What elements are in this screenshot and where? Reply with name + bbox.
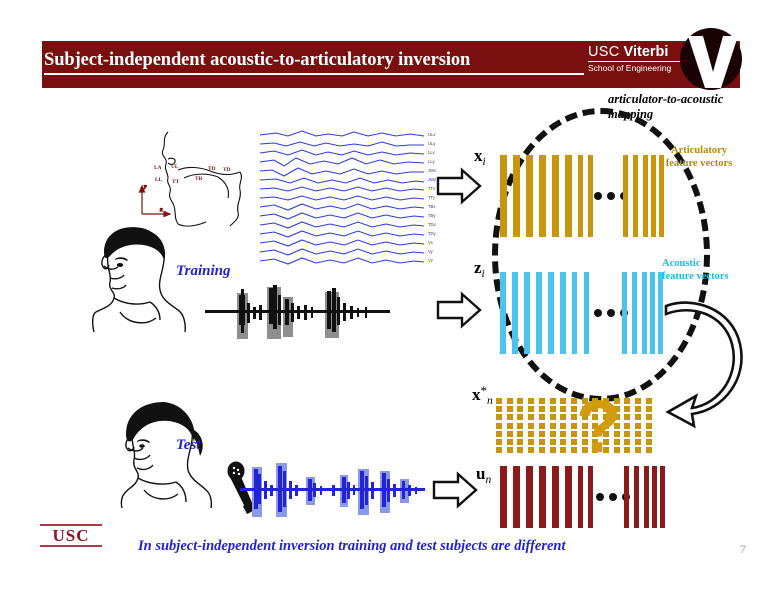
- svg-text:TDx: TDx: [428, 222, 437, 227]
- matrix-dot: [528, 439, 534, 445]
- articulator-point-label: TB: [195, 176, 203, 182]
- svg-text:y: y: [143, 184, 147, 190]
- block-arrow-right: [436, 292, 482, 328]
- speech-waveform-gray-black: [205, 283, 390, 341]
- matrix-dot: [517, 398, 523, 404]
- matrix-dot: [539, 447, 545, 453]
- matrix-dot: [507, 406, 513, 412]
- viterbi-text: Viterbi: [624, 44, 669, 60]
- matrix-dot: [539, 439, 545, 445]
- matrix-dot: [496, 447, 502, 453]
- svg-text:x: x: [159, 207, 163, 213]
- matrix-dot: [624, 398, 630, 404]
- variable-subscript: i: [483, 156, 486, 168]
- matrix-dot: [496, 406, 502, 412]
- matrix-dot: [496, 431, 502, 437]
- variable-base: x: [474, 146, 483, 165]
- acoustic-feature-bars: [500, 272, 662, 354]
- slide-canvas: Subject-independent acoustic-to-articula…: [0, 0, 776, 600]
- matrix-dot: [560, 431, 566, 437]
- articulator-point-label: LA: [154, 165, 162, 171]
- matrix-dot: [550, 398, 556, 404]
- variable-label-x-star-n: x*n: [472, 383, 493, 407]
- matrix-dot: [517, 447, 523, 453]
- block-arrow-right: [436, 168, 482, 204]
- big-v-logo-icon: [672, 26, 746, 92]
- matrix-dot: [507, 431, 513, 437]
- page-number: 7: [740, 542, 746, 557]
- matrix-dot: [528, 447, 534, 453]
- svg-text:LLx: LLx: [428, 150, 436, 155]
- matrix-dot: [635, 447, 641, 453]
- matrix-dot: [550, 447, 556, 453]
- matrix-dot: [646, 398, 652, 404]
- articulator-point-label: TD: [208, 166, 216, 172]
- matrix-dot: [635, 423, 641, 429]
- matrix-dot: [539, 398, 545, 404]
- matrix-dot: [517, 406, 523, 412]
- svg-text:Vz: Vz: [428, 258, 433, 263]
- block-arrow-right: [432, 472, 478, 508]
- matrix-dot: [539, 406, 545, 412]
- matrix-dot: [624, 447, 630, 453]
- articulator-point-label: TT: [172, 179, 180, 185]
- matrix-dot: [646, 439, 652, 445]
- matrix-dot: [539, 414, 545, 420]
- midsagittal-articulator-sketch: LA LL UL TT TB TD TD y x: [122, 126, 254, 234]
- matrix-dot: [624, 439, 630, 445]
- matrix-dot: [560, 423, 566, 429]
- matrix-dot: [517, 439, 523, 445]
- question-mark-symbol: ?: [576, 390, 621, 464]
- matrix-dot: [528, 431, 534, 437]
- articulator-point-label: LL: [155, 177, 163, 183]
- page-title: Subject-independent acoustic-to-articula…: [44, 50, 584, 75]
- matrix-dot: [496, 398, 502, 404]
- matrix-dot: [560, 439, 566, 445]
- logo-rule-bottom: [40, 545, 102, 547]
- matrix-dot: [528, 423, 534, 429]
- matrix-dot: [624, 406, 630, 412]
- matrix-dot: [560, 406, 566, 412]
- matrix-dot: [539, 431, 545, 437]
- matrix-dot: [624, 423, 630, 429]
- svg-text:TTx: TTx: [428, 186, 436, 191]
- matrix-dot: [550, 439, 556, 445]
- test-acoustic-feature-bars: [500, 466, 662, 528]
- slide-caption: In subject-independent inversion trainin…: [138, 538, 566, 555]
- matrix-dot: [507, 447, 513, 453]
- matrix-dot: [560, 398, 566, 404]
- matrix-dot: [635, 398, 641, 404]
- matrix-dot: [528, 398, 534, 404]
- test-label: Test: [176, 437, 200, 454]
- matrix-dot: [550, 431, 556, 437]
- matrix-dot: [635, 406, 641, 412]
- articulator-point-label: TD: [223, 167, 231, 173]
- training-label: Training: [176, 263, 230, 280]
- articulatory-feature-vectors-label: Articulatory feature vectors: [662, 145, 736, 170]
- matrix-dot: [635, 439, 641, 445]
- matrix-dot: [496, 423, 502, 429]
- usc-footer-logo: USC: [40, 524, 102, 547]
- matrix-dot: [646, 406, 652, 412]
- matrix-dot: [646, 414, 652, 420]
- matrix-dot: [624, 414, 630, 420]
- svg-text:TTy: TTy: [428, 195, 436, 200]
- title-bar-left-accent: [36, 41, 42, 88]
- matrix-dot: [507, 398, 513, 404]
- female-head-profile-illustration: [120, 398, 215, 510]
- ema-trajectory-traces: ULxULy LLxLLy JWxJWy TTxTTy TBxTBy TDxTD…: [258, 127, 444, 269]
- variable-base: x: [472, 385, 481, 404]
- acoustic-feature-vectors-label: Acoustic feature vectors: [662, 258, 732, 283]
- svg-text:Vy: Vy: [428, 249, 434, 254]
- matrix-dot: [560, 414, 566, 420]
- variable-label-u-n: un: [476, 464, 491, 486]
- matrix-dot: [646, 447, 652, 453]
- curved-block-arrow-up-left: [662, 300, 752, 430]
- matrix-dot: [496, 414, 502, 420]
- matrix-dot: [517, 414, 523, 420]
- male-head-profile-illustration: [90, 220, 190, 335]
- variable-subscript: i: [482, 268, 485, 280]
- matrix-dot: [646, 423, 652, 429]
- matrix-dot: [528, 414, 534, 420]
- variable-subscript: n: [487, 395, 493, 407]
- svg-text:ULy: ULy: [428, 141, 436, 146]
- matrix-dot: [550, 423, 556, 429]
- matrix-dot: [624, 431, 630, 437]
- matrix-dot: [560, 447, 566, 453]
- matrix-dot: [550, 406, 556, 412]
- svg-text:TBy: TBy: [428, 213, 436, 218]
- matrix-dot: [517, 423, 523, 429]
- svg-text:ULx: ULx: [428, 132, 436, 137]
- matrix-dot: [528, 406, 534, 412]
- speech-waveform-blue: [240, 461, 425, 519]
- variable-label-z-i: zi: [474, 258, 485, 280]
- matrix-dot: [646, 431, 652, 437]
- matrix-dot: [507, 414, 513, 420]
- articulatory-feature-bars: [500, 155, 662, 237]
- usc-footer-text: USC: [40, 526, 102, 545]
- svg-text:TDy: TDy: [428, 231, 437, 236]
- matrix-dot: [496, 439, 502, 445]
- matrix-dot: [635, 414, 641, 420]
- svg-text:Vx: Vx: [428, 240, 434, 245]
- matrix-dot: [517, 431, 523, 437]
- articulator-point-label: UL: [171, 164, 179, 170]
- matrix-dot: [507, 439, 513, 445]
- matrix-dot: [507, 423, 513, 429]
- matrix-dot: [635, 431, 641, 437]
- usc-text: USC: [588, 44, 620, 60]
- variable-label-x-i: xi: [474, 146, 486, 168]
- matrix-dot: [539, 423, 545, 429]
- matrix-dot: [550, 414, 556, 420]
- svg-text:TBx: TBx: [428, 204, 436, 209]
- svg-text:LLy: LLy: [428, 159, 436, 164]
- variable-subscript: n: [485, 474, 491, 486]
- variable-base: z: [474, 258, 482, 277]
